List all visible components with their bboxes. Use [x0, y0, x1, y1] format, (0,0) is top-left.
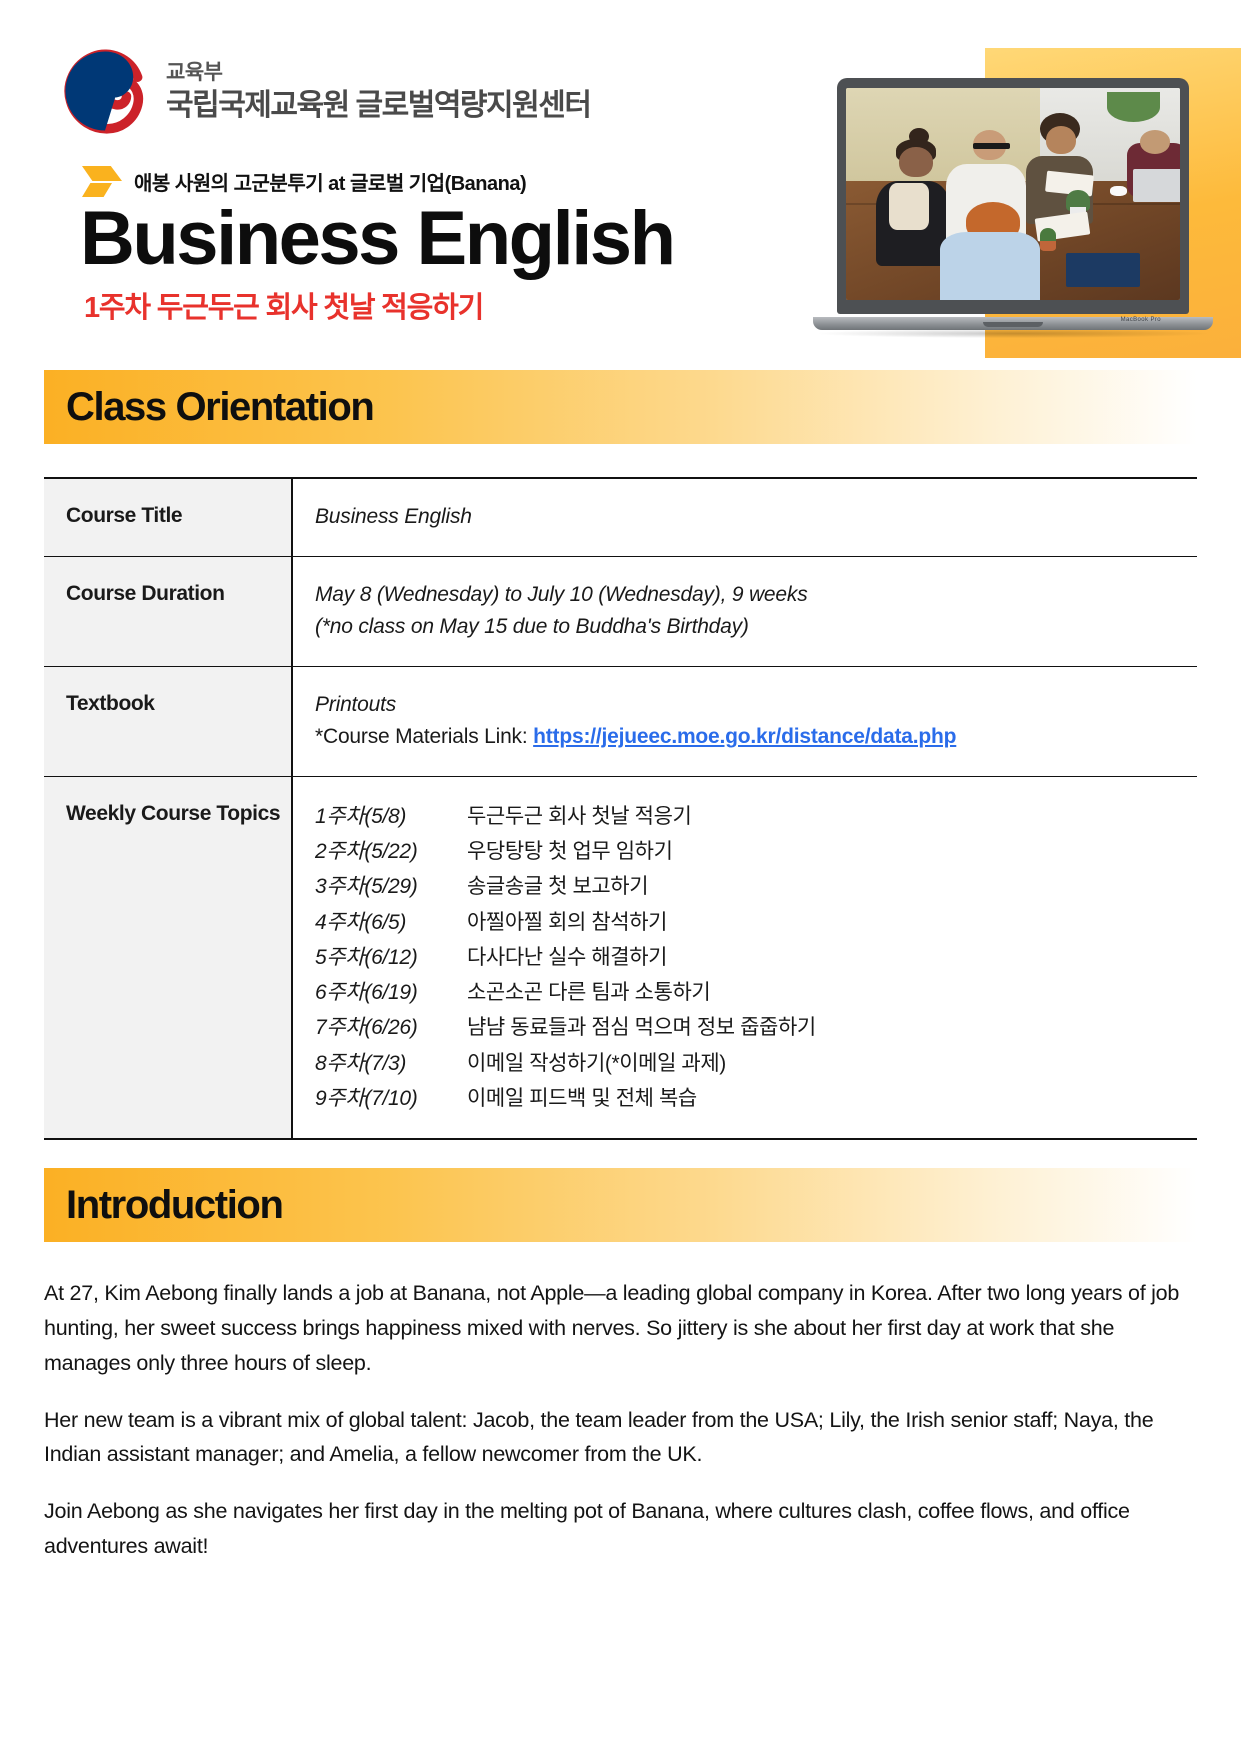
class-orientation-banner: Class Orientation: [44, 370, 1197, 444]
course-title-value: Business English: [315, 501, 1181, 534]
course-title-heading: Business English: [80, 200, 702, 278]
row-label-weekly-topics: Weekly Course Topics: [44, 776, 292, 1139]
duration-line-2: (*no class on May 15 due to Buddha's Bir…: [315, 611, 1181, 644]
government-logo-row: 교육부 국립국제교육원 글로벌역량지원센터: [62, 48, 702, 134]
page-header: 교육부 국립국제교육원 글로벌역량지원센터 애봉 사원의 고군분투기 at 글로…: [0, 0, 1241, 370]
course-subtitle-row: 애봉 사원의 고군분투기 at 글로벌 기업(Banana): [82, 164, 702, 198]
table-row: Course Title Business English: [44, 478, 1197, 556]
row-label-course-title: Course Title: [44, 478, 292, 556]
week-number: 7주차(6/26): [315, 1010, 467, 1045]
intro-paragraph-1: At 27, Kim Aebong finally lands a job at…: [44, 1276, 1197, 1380]
course-subtitle: 애봉 사원의 고군분투기 at 글로벌 기업(Banana): [134, 167, 526, 196]
list-item: 6주차(6/19) 소곤소곤 다른 팀과 소통하기: [315, 975, 1181, 1010]
list-item: 3주차(5/29) 송글송글 첫 보고하기: [315, 869, 1181, 904]
laptop-shadow: [819, 329, 1207, 338]
korean-government-taegeuk-icon: [62, 48, 148, 134]
duration-line-1: May 8 (Wednesday) to July 10 (Wednesday)…: [315, 579, 1181, 612]
week-topic: 이메일 피드백 및 전체 복습: [467, 1081, 697, 1116]
row-label-course-duration: Course Duration: [44, 556, 292, 666]
week-number: 2주차(5/22): [315, 834, 467, 869]
row-value-course-duration: May 8 (Wednesday) to July 10 (Wednesday)…: [292, 556, 1197, 666]
week-topic: 냠냠 동료들과 점심 먹으며 정보 줍줍하기: [467, 1010, 816, 1045]
introduction-banner: Introduction: [44, 1168, 1197, 1242]
week-topic: 우당탕탕 첫 업무 임하기: [467, 834, 673, 869]
course-info-table: Course Title Business English Course Dur…: [44, 477, 1197, 1140]
weekly-topics-list: 1주차(5/8) 두근두근 회사 첫날 적응기 2주차(5/22) 우당탕탕 첫…: [315, 799, 1181, 1116]
laptop-notch: [983, 322, 1043, 327]
list-item: 7주차(6/26) 냠냠 동료들과 점심 먹으며 정보 줍줍하기: [315, 1010, 1181, 1045]
week-topic: 다사다난 실수 해결하기: [467, 940, 667, 975]
introduction-body: At 27, Kim Aebong finally lands a job at…: [44, 1276, 1197, 1564]
week-number: 5주차(6/12): [315, 940, 467, 975]
brand-block: 교육부 국립국제교육원 글로벌역량지원센터 애봉 사원의 고군분투기 at 글로…: [62, 48, 702, 326]
course-materials-link[interactable]: https://jejueec.moe.go.kr/distance/data.…: [533, 725, 956, 748]
week-subheading: 1주차 두근두근 회사 첫날 적응하기: [84, 284, 702, 326]
week-topic: 이메일 작성하기(*이메일 과제): [467, 1046, 726, 1081]
list-item: 9주차(7/10) 이메일 피드백 및 전체 복습: [315, 1081, 1181, 1116]
intro-paragraph-2: Her new team is a vibrant mix of global …: [44, 1403, 1197, 1473]
week-topic: 소곤소곤 다른 팀과 소통하기: [467, 975, 710, 1010]
list-item: 5주차(6/12) 다사다난 실수 해결하기: [315, 940, 1181, 975]
intro-paragraph-3: Join Aebong as she navigates her first d…: [44, 1494, 1197, 1564]
class-orientation-title: Class Orientation: [66, 385, 373, 430]
week-topic: 아찔아찔 회의 참석하기: [467, 905, 667, 940]
row-value-course-title: Business English: [292, 478, 1197, 556]
subtitle-suffix: 글로벌 기업(Banana): [345, 173, 526, 195]
week-topic: 송글송글 첫 보고하기: [467, 869, 648, 904]
table-row: Textbook Printouts *Course Materials Lin…: [44, 666, 1197, 776]
week-number: 6주차(6/19): [315, 975, 467, 1010]
course-materials-line: *Course Materials Link: https://jejueec.…: [315, 721, 1181, 754]
week-number: 3주차(5/29): [315, 869, 467, 904]
list-item: 8주차(7/3) 이메일 작성하기(*이메일 과제): [315, 1046, 1181, 1081]
row-value-weekly-topics: 1주차(5/8) 두근두근 회사 첫날 적응기 2주차(5/22) 우당탕탕 첫…: [292, 776, 1197, 1139]
week-number: 1주차(5/8): [315, 799, 467, 834]
week-topic: 두근두근 회사 첫날 적응기: [467, 799, 691, 834]
list-item: 4주차(6/5) 아찔아찔 회의 참석하기: [315, 905, 1181, 940]
list-item: 2주차(5/22) 우당탕탕 첫 업무 임하기: [315, 834, 1181, 869]
row-value-textbook: Printouts *Course Materials Link: https:…: [292, 666, 1197, 776]
week-number: 8주차(7/3): [315, 1046, 467, 1081]
table-row: Course Duration May 8 (Wednesday) to Jul…: [44, 556, 1197, 666]
laptop-brand-label: MacBook Pro: [1121, 317, 1161, 323]
ministry-label: 교육부: [166, 60, 590, 85]
subtitle-prefix: 애봉 사원의 고군분투기: [134, 173, 328, 195]
laptop-screen: [837, 78, 1189, 314]
meeting-photo: [846, 88, 1180, 300]
introduction-title: Introduction: [66, 1183, 282, 1228]
chevron-brand-icon: [82, 164, 122, 198]
laptop-illustration: MacBook Pro: [813, 78, 1213, 340]
row-label-textbook: Textbook: [44, 666, 292, 776]
government-logo-text: 교육부 국립국제교육원 글로벌역량지원센터: [166, 58, 590, 125]
center-label: 국립국제교육원 글로벌역량지원센터: [166, 87, 590, 125]
textbook-value: Printouts: [315, 689, 1181, 722]
subtitle-at: at: [328, 173, 345, 195]
week-number: 9주차(7/10): [315, 1081, 467, 1116]
week-number: 4주차(6/5): [315, 905, 467, 940]
list-item: 1주차(5/8) 두근두근 회사 첫날 적응기: [315, 799, 1181, 834]
hero-image: MacBook Pro: [799, 48, 1241, 358]
table-row: Weekly Course Topics 1주차(5/8) 두근두근 회사 첫날…: [44, 776, 1197, 1139]
course-materials-label: *Course Materials Link:: [315, 725, 533, 748]
